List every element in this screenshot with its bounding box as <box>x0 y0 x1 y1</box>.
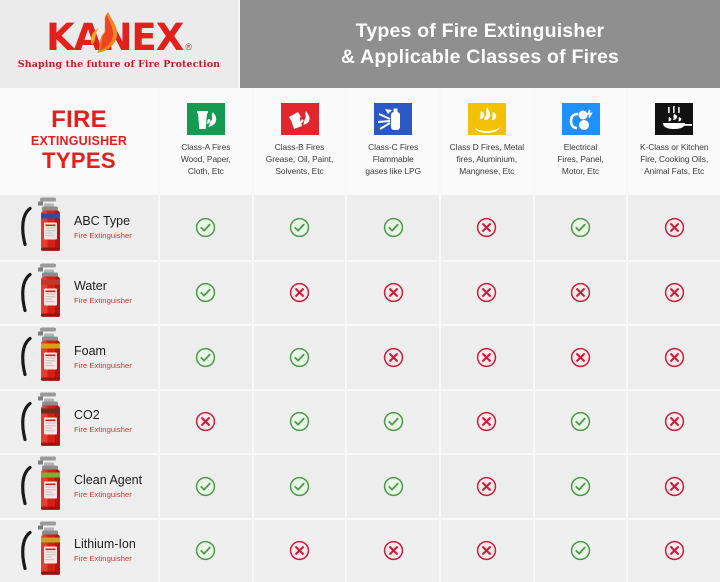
cross-circle-icon <box>664 347 685 368</box>
cross-circle-icon <box>476 411 497 432</box>
row-header-clean-agent: Clean Agent Fire Extinguisher <box>0 455 160 518</box>
check-circle-icon <box>289 476 310 497</box>
row-subtitle: Fire Extinguisher <box>74 554 136 563</box>
cell-applicable <box>254 455 348 518</box>
cross-circle-icon <box>570 347 591 368</box>
check-circle-icon <box>383 217 404 238</box>
corner-line-1: FIRE <box>51 107 107 133</box>
row-name: Water <box>74 280 132 294</box>
row-label-text: Foam Fire Extinguisher <box>74 345 132 370</box>
class-d-metal-fire-icon <box>468 103 506 135</box>
row-name: Foam <box>74 345 132 359</box>
check-circle-icon <box>383 476 404 497</box>
table-header-row: FIRE EXTINGUISHER TYPES Class-A Fires Wo… <box>0 88 720 195</box>
cell-not-applicable <box>160 391 254 454</box>
column-header-class-b: Class-B Fires Grease, Oil, Paint, Solven… <box>254 88 348 193</box>
cross-circle-icon <box>476 476 497 497</box>
table-row: Clean Agent Fire Extinguisher <box>0 453 720 518</box>
brand-logo: KANEX ® Shaping the future of Fire Prote… <box>0 0 240 88</box>
cross-circle-icon <box>664 411 685 432</box>
class-e-electrical-icon <box>562 103 600 135</box>
check-circle-icon <box>383 411 404 432</box>
check-circle-icon <box>195 217 216 238</box>
cell-not-applicable <box>254 520 348 582</box>
class-b-flammable-liquid-icon <box>281 103 319 135</box>
row-subtitle: Fire Extinguisher <box>74 231 132 240</box>
page-title: Types of Fire Extinguisher & Applicable … <box>240 0 720 88</box>
class-c-gas-cylinder-icon <box>374 103 412 135</box>
cell-not-applicable <box>441 520 535 582</box>
cell-applicable <box>160 455 254 518</box>
cell-not-applicable <box>535 326 629 389</box>
cell-not-applicable <box>628 455 720 518</box>
row-header-water: Water Fire Extinguisher <box>0 262 160 325</box>
column-header-class-d: Class D Fires, Metal fires, Aluminium, M… <box>441 88 535 193</box>
registered-mark: ® <box>185 42 192 52</box>
column-caption: Electrical Fires, Panel, Motor, Etc <box>557 142 603 178</box>
cell-applicable <box>347 195 441 260</box>
row-subtitle: Fire Extinguisher <box>74 361 132 370</box>
cell-applicable <box>160 520 254 582</box>
cell-applicable <box>535 455 629 518</box>
row-subtitle: Fire Extinguisher <box>74 490 142 499</box>
lithium-ion-extinguisher-image <box>16 518 72 582</box>
page-title-line1: Types of Fire Extinguisher <box>356 18 605 44</box>
cell-applicable <box>347 455 441 518</box>
column-header-class-a: Class-A Fires Wood, Paper, Cloth, Etc <box>160 88 254 193</box>
row-label-text: ABC Type Fire Extinguisher <box>74 215 132 240</box>
check-circle-icon <box>570 540 591 561</box>
table-row: Water Fire Extinguisher <box>0 260 720 325</box>
cell-not-applicable <box>347 262 441 325</box>
table-body: ABC Type Fire Extinguisher <box>0 195 720 582</box>
column-caption: Class D Fires, Metal fires, Aluminium, M… <box>450 142 524 178</box>
row-subtitle: Fire Extinguisher <box>74 296 132 305</box>
class-a-wood-paper-icon <box>187 103 225 135</box>
co2-extinguisher-image <box>16 389 72 454</box>
cross-circle-icon <box>664 476 685 497</box>
cross-circle-icon <box>195 411 216 432</box>
cross-circle-icon <box>289 282 310 303</box>
cell-not-applicable <box>347 520 441 582</box>
row-header-abc-type: ABC Type Fire Extinguisher <box>0 195 160 260</box>
cell-applicable <box>347 391 441 454</box>
cross-circle-icon <box>383 540 404 561</box>
cell-applicable <box>254 326 348 389</box>
row-label-text: Clean Agent Fire Extinguisher <box>74 474 142 499</box>
cell-not-applicable <box>628 326 720 389</box>
cross-circle-icon <box>664 540 685 561</box>
clean-agent-extinguisher-image <box>16 454 72 519</box>
row-name: Lithium-Ion <box>74 538 136 552</box>
row-name: Clean Agent <box>74 474 142 488</box>
cross-circle-icon <box>570 282 591 303</box>
logo-wordmark: KANEX ® <box>46 19 192 56</box>
cell-not-applicable <box>535 262 629 325</box>
check-circle-icon <box>195 347 216 368</box>
check-circle-icon <box>570 217 591 238</box>
table-corner-title: FIRE EXTINGUISHER TYPES <box>0 88 160 193</box>
cell-applicable <box>535 195 629 260</box>
cell-applicable <box>535 391 629 454</box>
cross-circle-icon <box>476 540 497 561</box>
check-circle-icon <box>289 217 310 238</box>
cell-not-applicable <box>441 455 535 518</box>
table-row: CO2 Fire Extinguisher <box>0 389 720 454</box>
cross-circle-icon <box>383 282 404 303</box>
row-name: ABC Type <box>74 215 132 229</box>
check-circle-icon <box>195 476 216 497</box>
cell-not-applicable <box>254 262 348 325</box>
check-circle-icon <box>570 411 591 432</box>
cross-circle-icon <box>476 282 497 303</box>
column-caption: Class-B Fires Grease, Oil, Paint, Solven… <box>266 142 333 178</box>
cell-not-applicable <box>441 195 535 260</box>
cell-not-applicable <box>628 520 720 582</box>
row-label-text: CO2 Fire Extinguisher <box>74 409 132 434</box>
cell-applicable <box>535 520 629 582</box>
check-circle-icon <box>289 347 310 368</box>
brand-tagline: Shaping the future of Fire Protection <box>18 59 220 70</box>
cell-applicable <box>160 326 254 389</box>
column-caption: Class-C Fires Flammable gases like LPG <box>365 142 421 178</box>
corner-line-2: EXTINGUISHER <box>31 133 127 149</box>
cell-not-applicable <box>441 391 535 454</box>
check-circle-icon <box>289 411 310 432</box>
cross-circle-icon <box>664 282 685 303</box>
flame-icon <box>88 12 122 54</box>
cell-not-applicable <box>347 326 441 389</box>
foam-extinguisher-image <box>16 325 72 390</box>
cell-applicable <box>160 262 254 325</box>
row-label-text: Water Fire Extinguisher <box>74 280 132 305</box>
page-header: KANEX ® Shaping the future of Fire Prote… <box>0 0 720 88</box>
cross-circle-icon <box>289 540 310 561</box>
column-caption: K-Class or Kitchen Fire, Cooking Oils, A… <box>640 142 708 178</box>
cell-not-applicable <box>628 195 720 260</box>
cross-circle-icon <box>476 217 497 238</box>
check-circle-icon <box>195 282 216 303</box>
row-label-text: Lithium-Ion Fire Extinguisher <box>74 538 136 563</box>
column-caption: Class-A Fires Wood, Paper, Cloth, Etc <box>181 142 231 178</box>
check-circle-icon <box>195 540 216 561</box>
row-header-co2: CO2 Fire Extinguisher <box>0 391 160 454</box>
table-row: ABC Type Fire Extinguisher <box>0 195 720 260</box>
abc-extinguisher-image <box>16 195 72 260</box>
check-circle-icon <box>570 476 591 497</box>
row-header-lithium-ion: Lithium-Ion Fire Extinguisher <box>0 520 160 582</box>
row-header-foam: Foam Fire Extinguisher <box>0 326 160 389</box>
cell-applicable <box>254 195 348 260</box>
table-row: Lithium-Ion Fire Extinguisher <box>0 518 720 582</box>
cell-applicable <box>160 195 254 260</box>
cell-not-applicable <box>441 326 535 389</box>
cell-not-applicable <box>441 262 535 325</box>
column-header-class-k: K-Class or Kitchen Fire, Cooking Oils, A… <box>628 88 720 193</box>
class-k-kitchen-fire-icon <box>655 103 693 135</box>
cross-circle-icon <box>383 347 404 368</box>
comparison-table: FIRE EXTINGUISHER TYPES Class-A Fires Wo… <box>0 88 720 582</box>
cross-circle-icon <box>664 217 685 238</box>
cell-not-applicable <box>628 391 720 454</box>
cell-not-applicable <box>628 262 720 325</box>
cell-applicable <box>254 391 348 454</box>
page-title-line2: & Applicable Classes of Fires <box>341 44 619 70</box>
row-subtitle: Fire Extinguisher <box>74 425 132 434</box>
column-header-electrical: Electrical Fires, Panel, Motor, Etc <box>535 88 629 193</box>
water-extinguisher-image <box>16 260 72 325</box>
row-name: CO2 <box>74 409 132 423</box>
fire-extinguisher-comparison-chart: KANEX ® Shaping the future of Fire Prote… <box>0 0 720 582</box>
table-row: Foam Fire Extinguisher <box>0 324 720 389</box>
cross-circle-icon <box>476 347 497 368</box>
column-header-class-c: Class-C Fires Flammable gases like LPG <box>347 88 441 193</box>
corner-line-3: TYPES <box>42 149 116 174</box>
